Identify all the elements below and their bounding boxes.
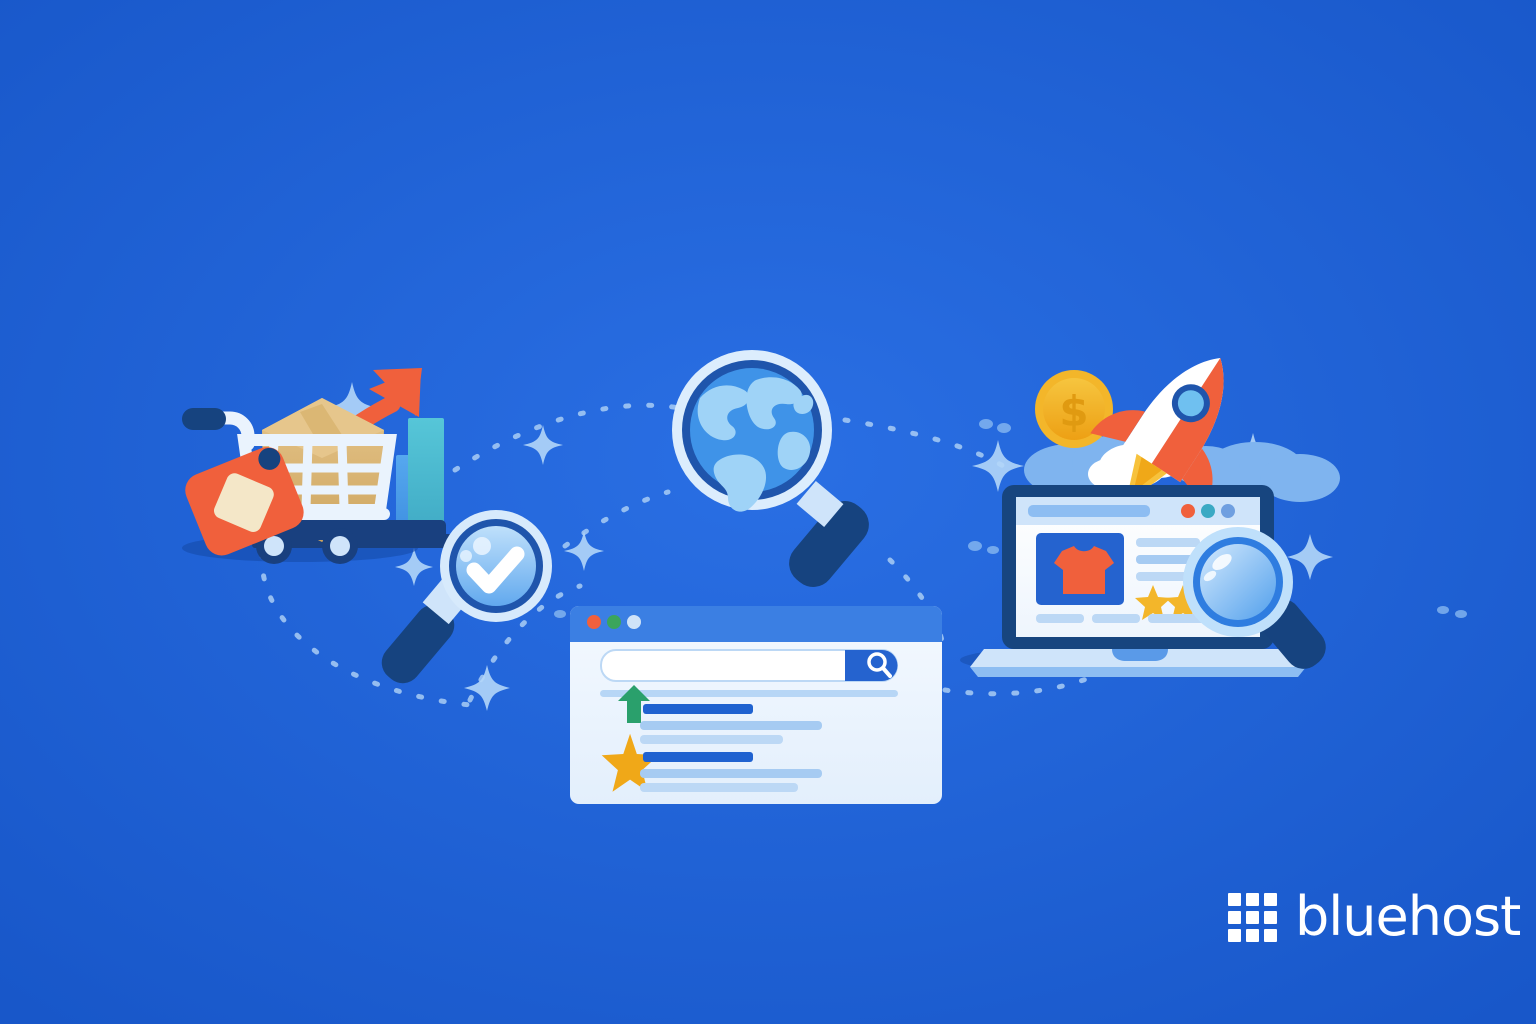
illustration: $ xyxy=(0,0,1536,1024)
coin-symbol: $ xyxy=(1059,387,1088,436)
coin-icon: $ xyxy=(1035,370,1113,448)
infographic-canvas: What is eCommerce SEO? eCommerce SEO is … xyxy=(0,0,1536,1024)
window-minimize-dot[interactable] xyxy=(607,615,621,629)
grid-3x3-icon xyxy=(1228,893,1277,942)
window-maximize-dot xyxy=(1221,504,1235,518)
window-minimize-dot xyxy=(1201,504,1215,518)
window-maximize-dot[interactable] xyxy=(627,615,641,629)
browser-title-bar xyxy=(570,606,942,642)
bluehost-logo[interactable]: bluehost xyxy=(1228,890,1520,944)
window-close-dot[interactable] xyxy=(587,615,601,629)
search-results-browser[interactable] xyxy=(570,606,942,804)
search-button-icon[interactable] xyxy=(845,650,898,681)
window-close-dot xyxy=(1181,504,1195,518)
bluehost-wordmark: bluehost xyxy=(1295,890,1520,944)
tshirt-icon xyxy=(1054,546,1114,594)
